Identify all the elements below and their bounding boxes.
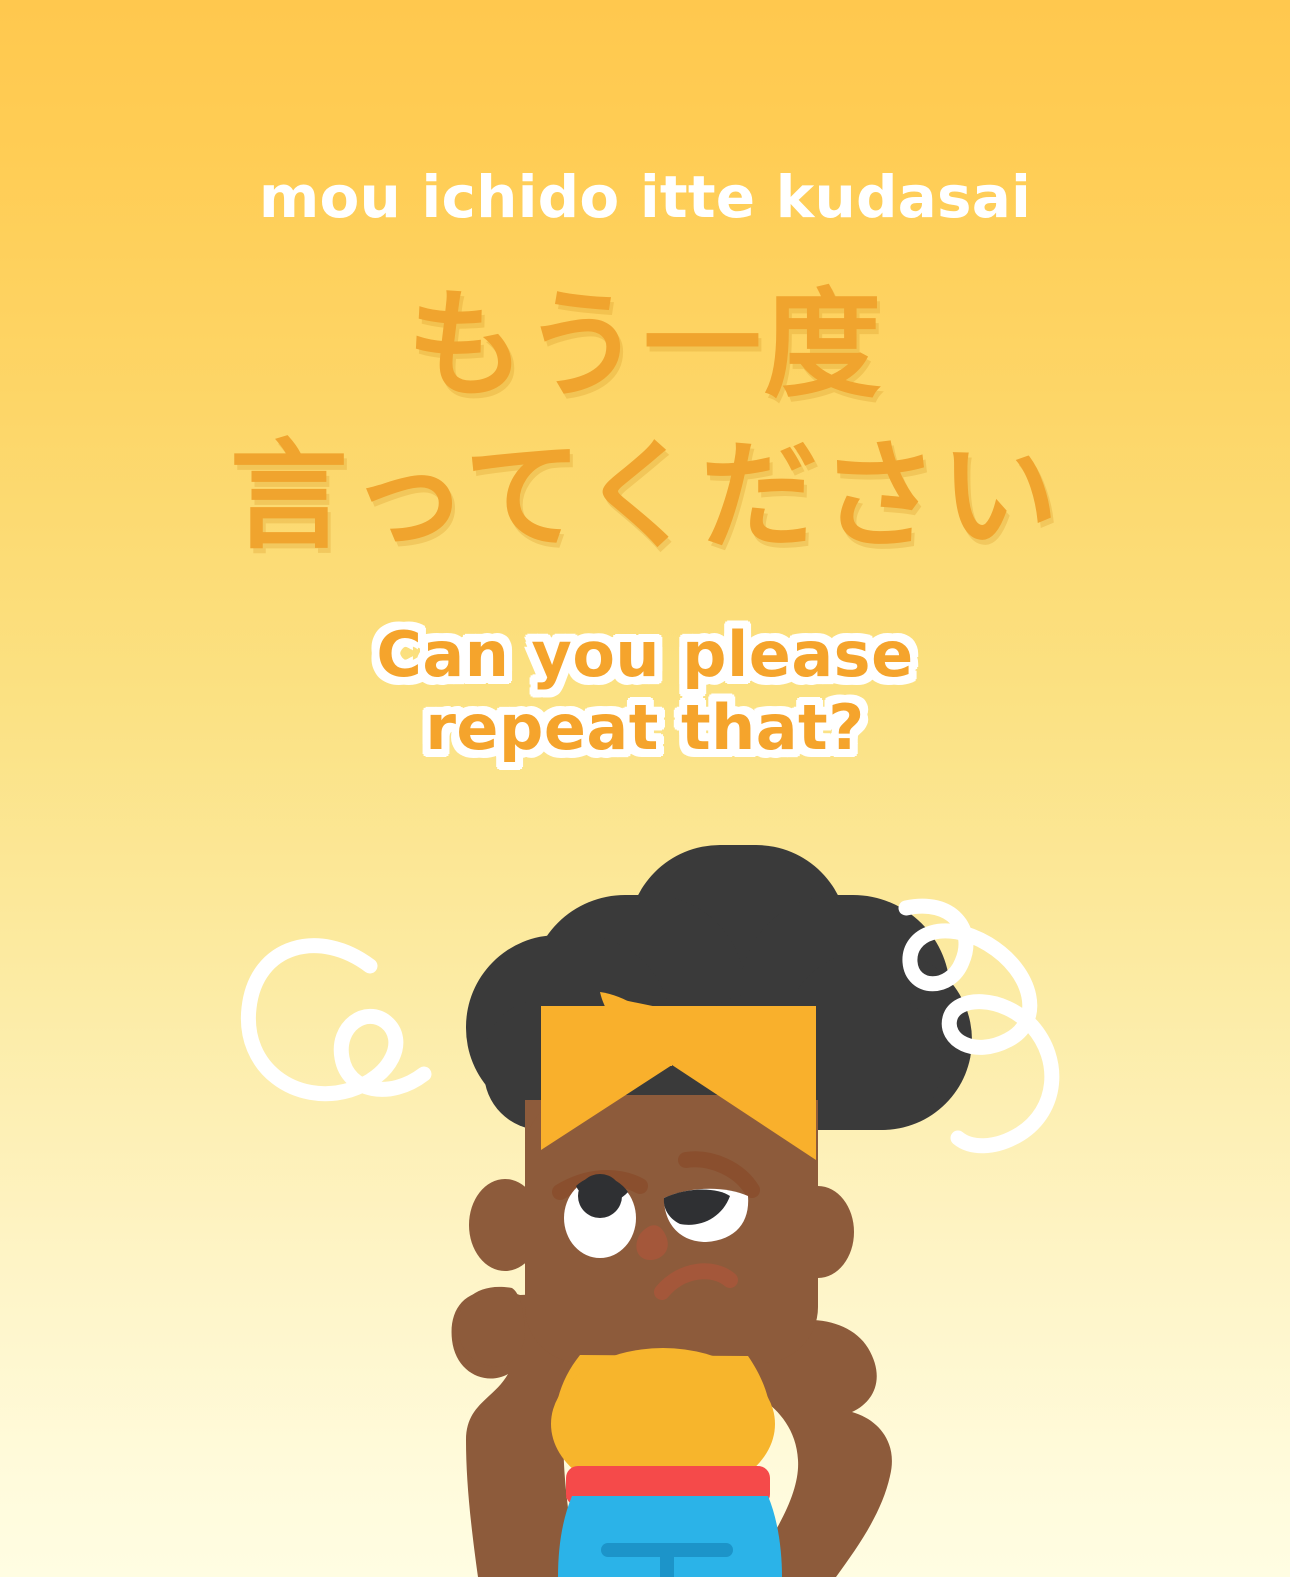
english-translation: Can you please repeat that? [0,572,1290,764]
japanese-text: もう一度 言ってください [0,226,1290,572]
japanese-line-1: もう一度 [0,270,1290,421]
text-stack: mou ichido itte kudasai もう一度 言ってください Can… [0,0,1290,764]
romaji-text: mou ichido itte kudasai [0,0,1290,226]
phrase-card: mou ichido itte kudasai もう一度 言ってください Can… [0,0,1290,1577]
english-line-1: Can you please [0,618,1290,691]
japanese-line-2: 言ってください [0,421,1290,572]
pants [558,1496,782,1577]
english-line-2: repeat that? [0,691,1290,764]
